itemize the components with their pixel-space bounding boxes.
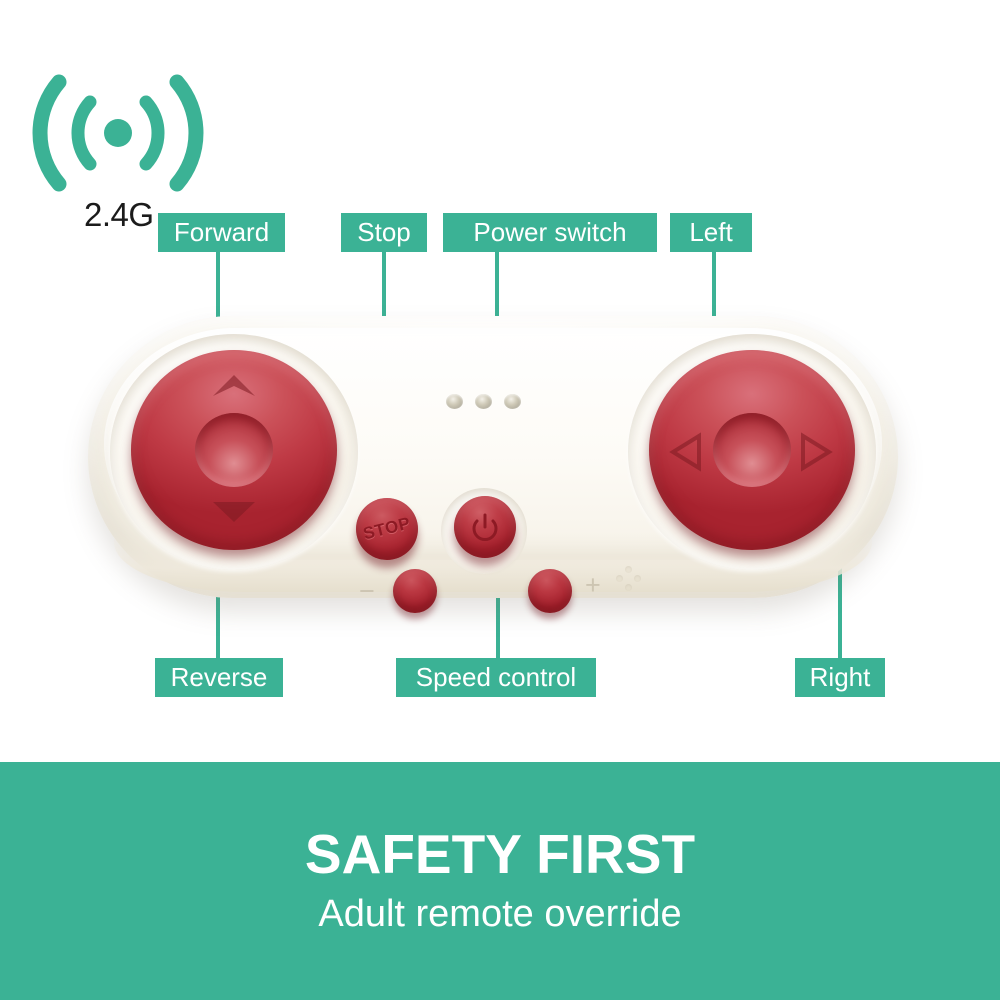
left-dpad-hub [195, 413, 273, 487]
speed-increase-button[interactable] [528, 569, 572, 613]
led-indicator-3 [504, 394, 521, 409]
speed-decrease-button[interactable] [393, 569, 437, 613]
wireless-badge: 2.4G [28, 46, 218, 196]
safety-banner: SAFETY FIRST Adult remote override [0, 762, 1000, 1000]
wifi-center-dot [104, 119, 132, 147]
banner-title: SAFETY FIRST [0, 822, 1000, 886]
power-switch-button[interactable] [454, 496, 516, 558]
callout-stop[interactable]: Stop [341, 213, 427, 252]
led-indicator-1 [446, 394, 463, 409]
callout-power-switch[interactable]: Power switch [443, 213, 657, 252]
led-indicator-2 [475, 394, 492, 409]
down-arrow-icon [209, 498, 259, 526]
wifi-signal-icon [28, 46, 218, 196]
right-dpad-left-right[interactable] [649, 350, 855, 550]
stop-button-label: STOP [361, 513, 412, 544]
stop-button[interactable]: STOP [356, 498, 418, 560]
callout-forward[interactable]: Forward [158, 213, 285, 252]
callout-right[interactable]: Right [795, 658, 885, 697]
power-icon [470, 511, 500, 543]
left-dpad-forward-reverse[interactable] [131, 350, 337, 550]
callout-reverse[interactable]: Reverse [155, 658, 283, 697]
callout-speed-control[interactable]: Speed control [396, 658, 596, 697]
right-arrow-icon [799, 432, 833, 472]
up-arrow-icon [209, 371, 259, 399]
left-arrow-icon [669, 432, 703, 472]
wireless-badge-label: 2.4G [84, 196, 154, 234]
remote-control-device: STOP − + [88, 316, 898, 598]
callout-left[interactable]: Left [670, 213, 752, 252]
product-infographic: 2.4G Forward Stop Power switch Left Reve… [0, 0, 1000, 1000]
speed-plus-sign: + [585, 572, 601, 599]
right-dpad-hub [713, 413, 791, 487]
banner-subtitle: Adult remote override [0, 893, 1000, 936]
vent-dots [616, 566, 642, 592]
speed-minus-sign: − [359, 578, 375, 605]
